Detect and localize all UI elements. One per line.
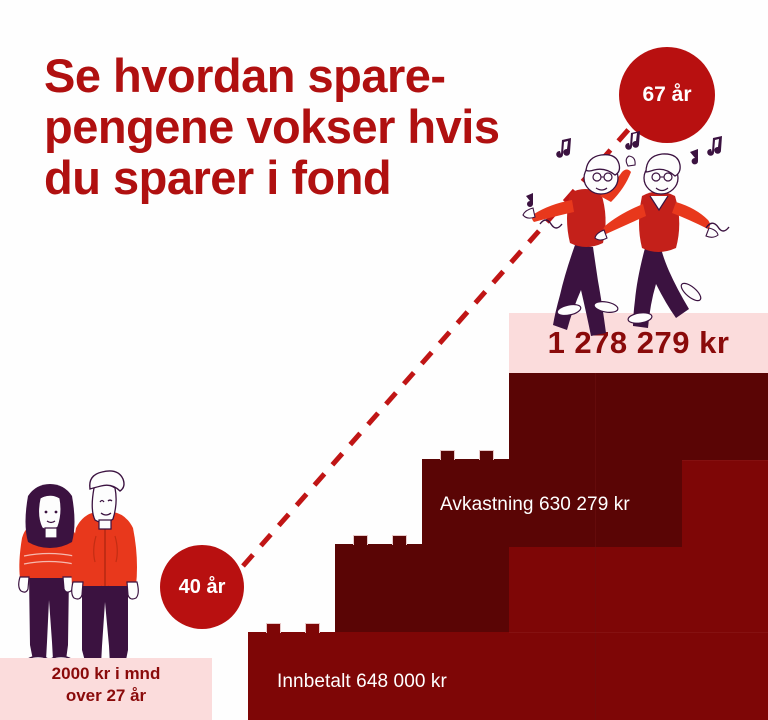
age-marker-start: 40 år [160,545,244,629]
bar-step-2-nub-right [392,535,407,545]
total-value-banner: 1 278 279 kr [509,313,768,373]
contribution-caption-text: 2000 kr i mnd over 27 år [0,663,212,707]
paid-in-label: Innbetalt 648 000 kr [277,671,447,693]
age-marker-end: 67 år [619,47,715,143]
bar-step-3-nub-right [479,450,494,460]
age-marker-start-text: 40 år [179,576,226,599]
bar-seam-line-2 [682,460,768,461]
page-title: Se hvordan spare- pengene vokser hvis du… [44,50,564,203]
infographic-canvas: 1 278 279 kr Avkastning 630 279 kr Innbe… [0,0,768,720]
bar-step-5-paid [682,460,768,720]
bar-step-1-nub-right [305,623,320,633]
senior-man-figure [595,154,718,328]
bar-step-2-return [335,544,423,632]
bar-step-2-nub-left [353,535,368,545]
return-label: Avkastning 630 279 kr [440,494,630,516]
age-marker-end-text: 67 år [642,83,691,107]
bar-step-4-column-divider [595,373,596,720]
young-man-figure [72,471,139,673]
bar-step-5-top-dark [682,373,768,460]
total-value-text: 1 278 279 kr [548,325,730,361]
bar-step-3-nub-left [440,450,455,460]
motion-squiggle-icon [540,220,729,231]
bar-step-1-nub-left [266,623,281,633]
young-woman-figure [19,484,80,668]
bar-seam-line-1 [509,632,768,633]
bar-step-3-return [422,459,510,632]
